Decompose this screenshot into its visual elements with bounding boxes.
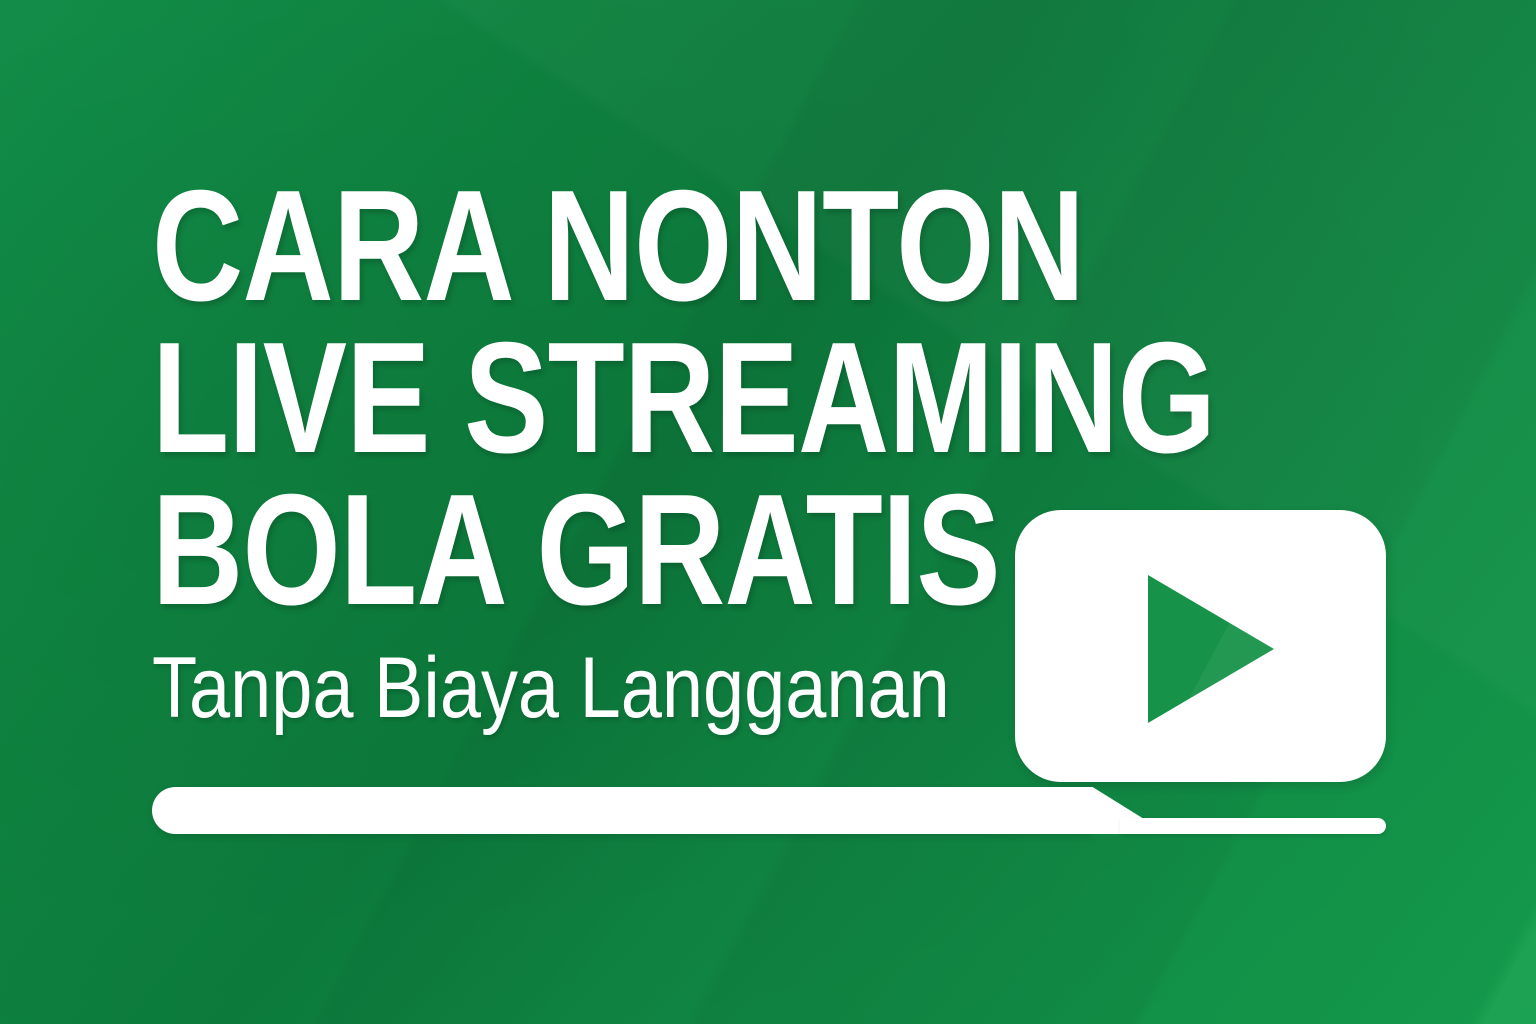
decorative-bar-thick: [152, 787, 1092, 834]
play-button[interactable]: [1015, 510, 1386, 782]
headline-line-1: CARA NONTON: [152, 170, 1048, 322]
headline-line-2: LIVE STREAMING: [152, 322, 1048, 474]
banner-canvas: CARA NONTON LIVE STREAMING BOLA GRATIS T…: [0, 0, 1536, 1024]
decorative-bar-thin: [1120, 818, 1386, 834]
subtitle-text: Tanpa Biaya Langganan: [152, 640, 950, 736]
play-triangle-icon: [1148, 575, 1274, 723]
headline-line-3: BOLA GRATIS: [152, 474, 1048, 626]
